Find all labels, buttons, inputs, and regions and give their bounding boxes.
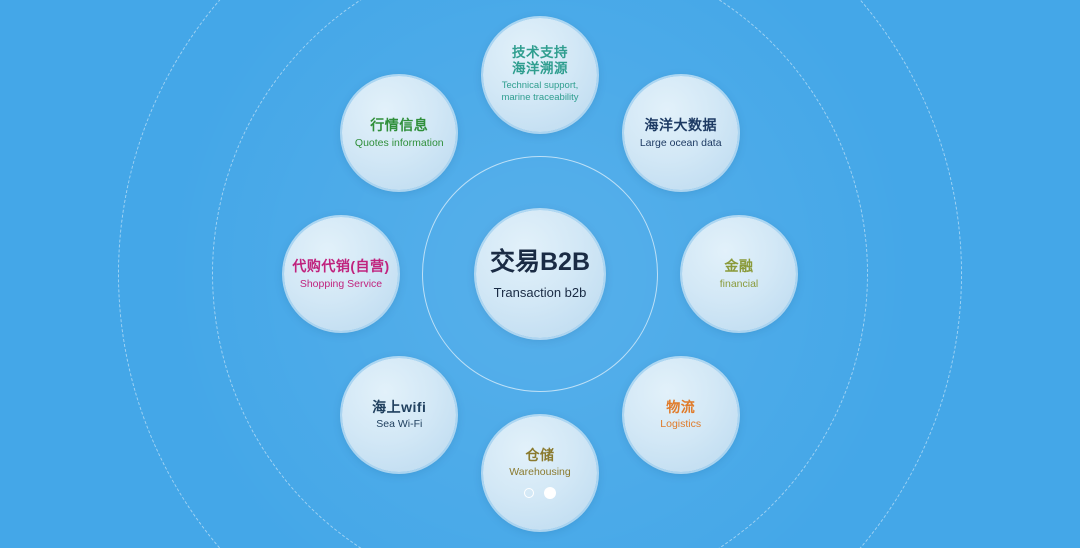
node-financial-label-cn: 金融 xyxy=(725,258,754,275)
node-shopping-service[interactable]: 代购代销(自营)Shopping Service xyxy=(284,217,398,331)
node-technical-support-label-cn: 技术支持 海洋溯源 xyxy=(512,45,568,77)
node-warehousing-label-cn: 仓储 xyxy=(526,447,555,464)
node-financial-label-en: financial xyxy=(720,278,759,290)
node-large-ocean-data-label-en: Large ocean data xyxy=(640,137,722,149)
pagination-dots[interactable] xyxy=(524,487,556,499)
node-financial[interactable]: 金融financial xyxy=(682,217,796,331)
node-technical-support-label-en: Technical support, marine traceability xyxy=(501,80,578,105)
node-sea-wifi-label-cn: 海上wifi xyxy=(372,399,426,416)
pagination-dot-active[interactable] xyxy=(544,487,556,499)
node-warehousing[interactable]: 仓储Warehousing xyxy=(483,416,597,530)
node-quotes-information-label-en: Quotes information xyxy=(355,137,444,149)
node-center-label-cn: 交易B2B xyxy=(490,248,590,278)
node-quotes-information[interactable]: 行情信息Quotes information xyxy=(342,76,456,190)
node-logistics-label-cn: 物流 xyxy=(666,399,695,416)
pagination-dot-inactive[interactable] xyxy=(524,488,534,498)
node-shopping-service-label-cn: 代购代销(自营) xyxy=(292,258,389,275)
node-large-ocean-data-label-cn: 海洋大数据 xyxy=(644,117,717,134)
node-transaction-b2b[interactable]: 交易B2B Transaction b2b xyxy=(476,210,604,338)
node-technical-support[interactable]: 技术支持 海洋溯源Technical support, marine trace… xyxy=(483,18,597,132)
node-large-ocean-data[interactable]: 海洋大数据Large ocean data xyxy=(624,76,738,190)
node-logistics[interactable]: 物流Logistics xyxy=(624,358,738,472)
node-sea-wifi[interactable]: 海上wifiSea Wi-Fi xyxy=(342,358,456,472)
node-center-label-en: Transaction b2b xyxy=(494,285,587,300)
node-logistics-label-en: Logistics xyxy=(660,418,701,430)
node-warehousing-label-en: Warehousing xyxy=(509,466,570,478)
node-shopping-service-label-en: Shopping Service xyxy=(300,278,382,290)
node-quotes-information-label-cn: 行情信息 xyxy=(370,117,428,134)
node-sea-wifi-label-en: Sea Wi-Fi xyxy=(376,418,422,430)
diagram-canvas: 交易B2B Transaction b2b 技术支持 海洋溯源Technical… xyxy=(0,0,1080,548)
